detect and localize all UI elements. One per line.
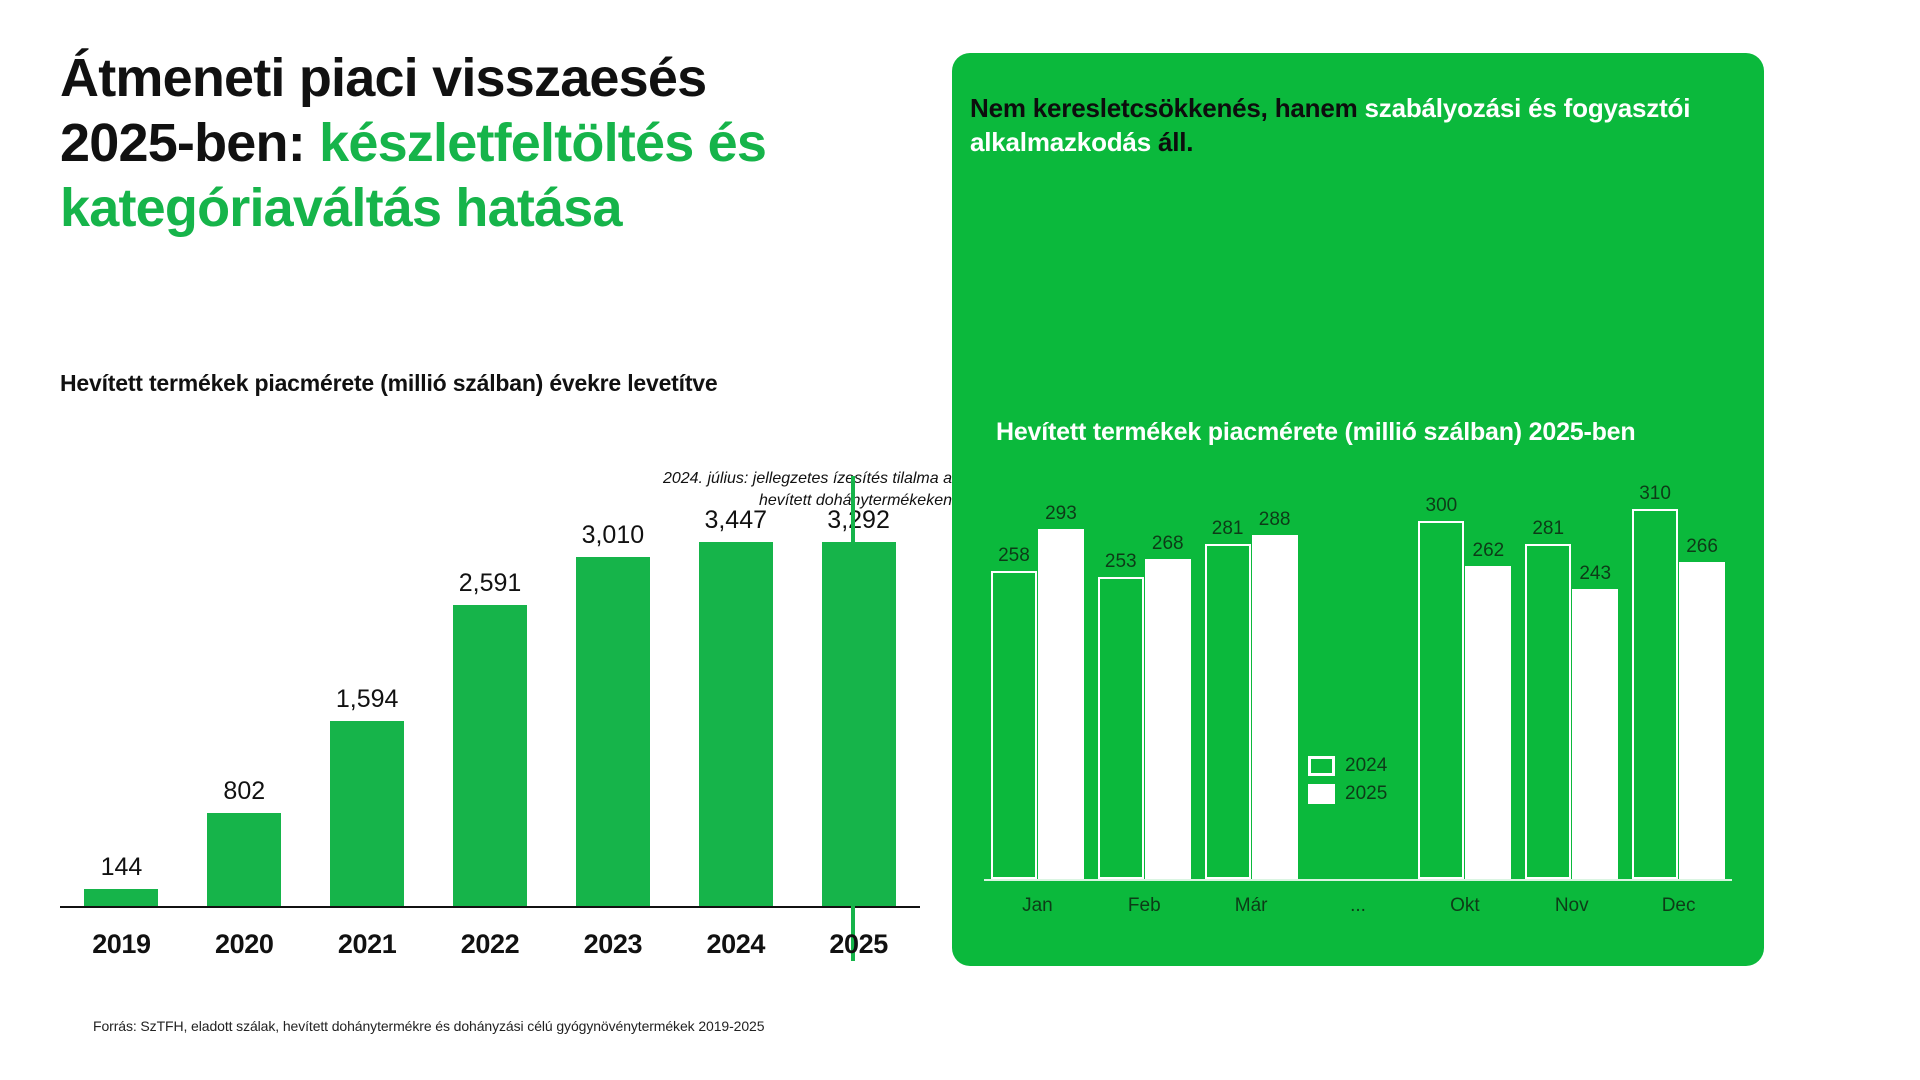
legend-label-2024: 2024 <box>1345 755 1387 777</box>
panel-chart-legend: 2024 2025 <box>1308 755 1387 805</box>
left-chart-bars: 144 802 1,594 2,591 3,010 <box>60 506 920 906</box>
x-label-nov: Nov <box>1518 895 1625 917</box>
bar-wrap-nov-2025: 243 <box>1572 563 1618 879</box>
green-panel: Nem keresletcsökkenés, hanem szabályozás… <box>952 53 1764 966</box>
panel-chart-x-axis-labels: Jan Feb Már ... Okt Nov Dec <box>984 895 1732 917</box>
bar-2022 <box>453 605 527 906</box>
bar-nov-2024 <box>1525 544 1571 879</box>
x-label-2023: 2023 <box>551 929 674 960</box>
panel-chart-title: Hevített termékek piacmérete (millió szá… <box>996 415 1696 449</box>
bar-value-label: 243 <box>1579 563 1611 585</box>
bar-group-2023: 3,010 <box>551 506 674 906</box>
x-label-okt: Okt <box>1411 895 1518 917</box>
panel-chart-axis-line <box>984 879 1732 881</box>
bar-2023 <box>576 557 650 906</box>
bar-mar-2025 <box>1252 535 1298 879</box>
bar-value-label: 262 <box>1473 540 1505 562</box>
bar-okt-2025 <box>1465 566 1511 879</box>
bar-value-label: 258 <box>998 545 1030 567</box>
bar-2021 <box>330 721 404 906</box>
legend-item-2024: 2024 <box>1308 755 1387 777</box>
bar-value-label: 3,010 <box>582 521 645 550</box>
bar-group-ellipsis <box>1305 509 1412 879</box>
bar-group-2020: 802 <box>183 506 306 906</box>
bar-wrap-jan-2025: 293 <box>1038 503 1084 879</box>
headline-line-3-accent: kategóriaváltás hatása <box>60 178 622 238</box>
x-label-feb: Feb <box>1091 895 1198 917</box>
bar-wrap-okt-2025: 262 <box>1465 540 1511 879</box>
bar-group-dec: 310 266 <box>1625 509 1732 879</box>
x-label-2024: 2024 <box>674 929 797 960</box>
x-label-dec: Dec <box>1625 895 1732 917</box>
bar-group-2019: 144 <box>60 506 183 906</box>
slide-root: Átmeneti piaci visszaesés 2025-ben: kész… <box>0 0 1920 1080</box>
legend-swatch-2025-icon <box>1308 784 1335 804</box>
bar-group-feb: 253 268 <box>1091 509 1198 879</box>
bar-group-nov: 281 243 <box>1518 509 1625 879</box>
panel-headline-black-2: áll. <box>1158 127 1193 157</box>
bar-wrap-nov-2024: 281 <box>1525 518 1571 879</box>
bar-nov-2025 <box>1572 589 1618 879</box>
bar-wrap-jan-2024: 258 <box>991 545 1037 879</box>
x-label-jan: Jan <box>984 895 1091 917</box>
bar-wrap-feb-2025: 268 <box>1145 533 1191 879</box>
bar-value-label: 253 <box>1105 551 1137 573</box>
panel-chart-bars: 258 293 253 268 <box>984 509 1732 879</box>
legend-swatch-2024-icon <box>1308 756 1335 776</box>
left-chart-x-axis-labels: 2019 2020 2021 2022 2023 2024 2025 <box>60 929 920 960</box>
bar-value-label: 288 <box>1259 509 1291 531</box>
bar-value-label: 3,447 <box>704 506 767 535</box>
headline-line-1: Átmeneti piaci visszaesés <box>60 48 706 108</box>
bar-value-label: 293 <box>1045 503 1077 525</box>
left-column: Átmeneti piaci visszaesés 2025-ben: kész… <box>60 46 920 1036</box>
bar-wrap-mar-2025: 288 <box>1252 509 1298 879</box>
x-label-2019: 2019 <box>60 929 183 960</box>
bar-value-label: 300 <box>1426 495 1458 517</box>
headline-line-2-accent: készletfeltöltés és <box>319 113 766 173</box>
bar-value-label: 3,292 <box>827 506 890 535</box>
bar-wrap-dec-2025: 266 <box>1679 536 1725 879</box>
bar-value-label: 144 <box>101 853 143 882</box>
bar-jan-2024 <box>991 571 1037 879</box>
panel-headline: Nem keresletcsökkenés, hanem szabályozás… <box>970 91 1750 160</box>
bar-group-mar: 281 288 <box>1198 509 1305 879</box>
headline-line-2-black: 2025-ben: <box>60 113 319 173</box>
bar-jan-2025 <box>1038 529 1084 879</box>
bar-group-2021: 1,594 <box>306 506 429 906</box>
bar-dec-2025 <box>1679 562 1725 879</box>
bar-wrap-feb-2024: 253 <box>1098 551 1144 879</box>
x-label-ellipsis: ... <box>1305 895 1412 917</box>
bar-value-label: 2,591 <box>459 569 522 598</box>
x-label-2025: 2025 <box>797 929 920 960</box>
x-label-2022: 2022 <box>429 929 552 960</box>
bar-feb-2024 <box>1098 577 1144 879</box>
bar-dec-2024 <box>1632 509 1678 879</box>
legend-item-2025: 2025 <box>1308 783 1387 805</box>
bar-wrap-dec-2024: 310 <box>1632 483 1678 879</box>
bar-value-label: 268 <box>1152 533 1184 555</box>
bar-2025 <box>822 542 896 906</box>
bar-value-label: 281 <box>1212 518 1244 540</box>
bar-mar-2024 <box>1205 544 1251 879</box>
bar-value-label: 266 <box>1686 536 1718 558</box>
left-chart-plot: 144 802 1,594 2,591 3,010 <box>60 476 920 966</box>
bar-wrap-okt-2024: 300 <box>1418 495 1464 879</box>
panel-headline-black-1: Nem keresletcsökkenés, hanem <box>970 93 1365 123</box>
bar-2020 <box>207 813 281 906</box>
bar-value-label: 802 <box>223 777 265 806</box>
bar-group-2024: 3,447 <box>674 506 797 906</box>
x-label-mar: Már <box>1198 895 1305 917</box>
bar-group-2025: 3,292 <box>797 506 920 906</box>
bar-value-label: 310 <box>1639 483 1671 505</box>
left-chart-axis-line <box>60 906 920 908</box>
left-chart-title: Hevített termékek piacmérete (millió szá… <box>60 368 850 399</box>
source-footnote: Forrás: SzTFH, eladott szálak, hevített … <box>93 1018 764 1034</box>
x-label-2020: 2020 <box>183 929 306 960</box>
bar-group-2022: 2,591 <box>429 506 552 906</box>
bar-2019 <box>84 889 158 906</box>
legend-label-2025: 2025 <box>1345 783 1387 805</box>
bar-value-label: 281 <box>1532 518 1564 540</box>
bar-wrap-mar-2024: 281 <box>1205 518 1251 879</box>
page-title: Átmeneti piaci visszaesés 2025-ben: kész… <box>60 46 920 240</box>
year-divider-line <box>851 476 855 961</box>
bar-group-jan: 258 293 <box>984 509 1091 879</box>
x-label-2021: 2021 <box>306 929 429 960</box>
bar-group-okt: 300 262 <box>1411 509 1518 879</box>
panel-chart-plot: 258 293 253 268 <box>984 493 1732 923</box>
bar-feb-2025 <box>1145 559 1191 879</box>
bar-2024 <box>699 542 773 906</box>
bar-okt-2024 <box>1418 521 1464 879</box>
bar-value-label: 1,594 <box>336 685 399 714</box>
